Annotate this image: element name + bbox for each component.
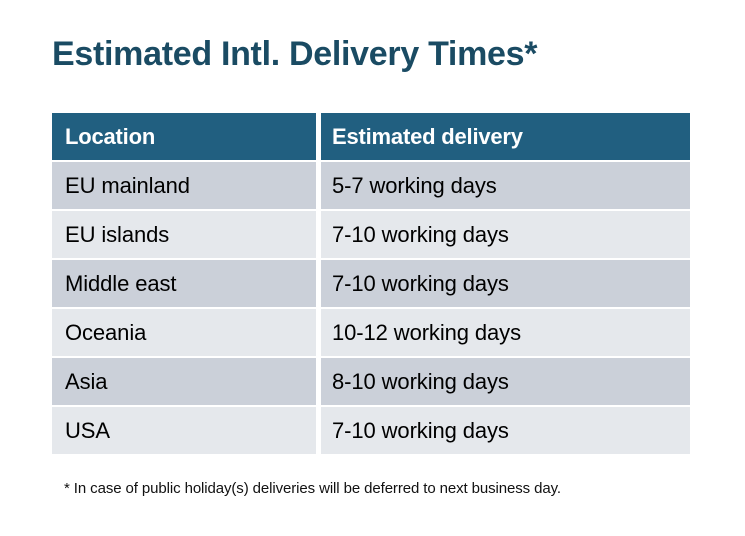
table-row: EU islands 7-10 working days [52, 211, 690, 258]
footnote-text: * In case of public holiday(s) deliverie… [64, 480, 561, 497]
cell-delivery: 7-10 working days [321, 407, 690, 454]
cell-location: EU islands [52, 211, 316, 258]
cell-delivery: 10-12 working days [321, 309, 690, 356]
table-row: USA 7-10 working days [52, 407, 690, 454]
cell-location: Oceania [52, 309, 316, 356]
table-row: Asia 8-10 working days [52, 358, 690, 405]
delivery-times-page: Estimated Intl. Delivery Times* Location… [0, 0, 745, 536]
column-header-location: Location [52, 113, 316, 160]
cell-delivery: 7-10 working days [321, 260, 690, 307]
table-row: EU mainland 5-7 working days [52, 162, 690, 209]
cell-location: Middle east [52, 260, 316, 307]
column-header-estimated-delivery: Estimated delivery [321, 113, 690, 160]
table-row: Oceania 10-12 working days [52, 309, 690, 356]
cell-delivery: 5-7 working days [321, 162, 690, 209]
cell-location: Asia [52, 358, 316, 405]
cell-delivery: 7-10 working days [321, 211, 690, 258]
cell-location: EU mainland [52, 162, 316, 209]
cell-location: USA [52, 407, 316, 454]
table-header-row: Location Estimated delivery [52, 113, 690, 160]
page-title: Estimated Intl. Delivery Times* [52, 36, 537, 73]
delivery-times-table: Location Estimated delivery EU mainland … [52, 113, 690, 454]
cell-delivery: 8-10 working days [321, 358, 690, 405]
table-row: Middle east 7-10 working days [52, 260, 690, 307]
